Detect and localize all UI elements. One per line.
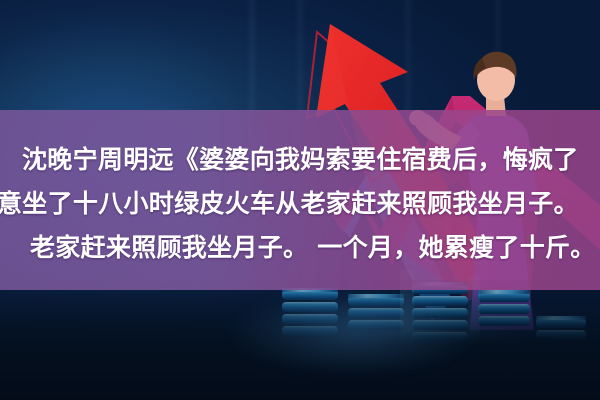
caption-text-block: 沈晚宁周明远《婆婆向我妈索要住宿费后，悔疯了 意坐了十八小时绿皮火车从老家赶来照… — [0, 110, 600, 290]
floor-spotlight — [228, 288, 480, 376]
caption-line-1: 沈晚宁周明远《婆婆向我妈索要住宿费后，悔疯了 — [22, 144, 579, 176]
caption-line-3: 老家赶来照顾我坐月子。 一个月，她累瘦了十斤。 — [30, 232, 596, 264]
screenshot-canvas: 沈晚宁周明远《婆婆向我妈索要住宿费后，悔疯了 意坐了十八小时绿皮火车从老家赶来照… — [0, 0, 600, 400]
caption-line-2: 意坐了十八小时绿皮火车从老家赶来照顾我坐月子。 — [0, 188, 579, 220]
